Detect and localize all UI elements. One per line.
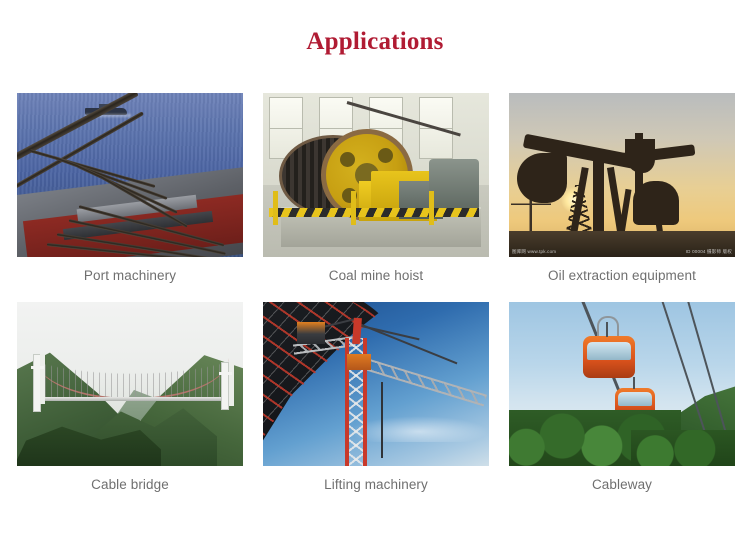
gallery-item-caption: Port machinery (17, 257, 243, 283)
gallery-row: Port machinery (17, 93, 731, 283)
drum-hole-1 (340, 152, 355, 167)
cable-bridge-photo[interactable] (17, 302, 243, 466)
crane-hoist-line (381, 382, 383, 458)
bridge-tower-right-crossbeam (219, 372, 232, 375)
gallery-item-caption: Lifting machinery (263, 466, 489, 492)
gondola-hanger-1 (606, 322, 609, 337)
rail-post-3 (429, 191, 434, 225)
bridge-tower-left-crossbeam (31, 366, 44, 369)
gallery-item-caption: Oil extraction equipment (509, 257, 735, 283)
gondola-cabin-1 (583, 336, 635, 378)
gallery-item-port-machinery[interactable]: Port machinery (17, 93, 243, 283)
watermark-left: 图库网 www.tpk.com (512, 249, 556, 255)
gallery-item-cable-bridge[interactable]: Cable bridge (17, 302, 243, 492)
bridge-tower-left-leg (40, 354, 45, 404)
gallery-item-lifting-machinery[interactable]: Lifting machinery (263, 302, 489, 492)
pumpjack-a-post (593, 155, 604, 243)
gondola-window-2 (618, 392, 652, 405)
rail-post-1 (273, 191, 278, 225)
rail-post-2 (351, 191, 356, 225)
safety-rail (269, 208, 479, 217)
page-title: Applications (0, 28, 750, 56)
gondola-hanger-2 (633, 377, 636, 389)
bridge-tower-right (221, 362, 229, 410)
crane-operator-cab (347, 354, 371, 370)
crane-counterweight (297, 322, 325, 344)
forest-foreground-right (631, 430, 735, 466)
bridge-deck (35, 397, 227, 401)
gallery-item-oil-extraction[interactable]: 图库网 www.tpk.com ID 00004 摄影师 版权 Oil extr… (509, 93, 735, 283)
applications-gallery: Port machinery (17, 93, 731, 492)
pumpjack-b-counterweight (633, 181, 679, 225)
lifting-machinery-photo[interactable] (263, 302, 489, 466)
cloud-haze (349, 416, 489, 442)
cableway-photo[interactable] (509, 302, 735, 466)
gondola-window-1 (587, 342, 631, 360)
crane-jib (357, 356, 487, 406)
oil-extraction-photo[interactable]: 图库网 www.tpk.com ID 00004 摄影师 版权 (509, 93, 735, 257)
coal-mine-hoist-photo[interactable] (263, 93, 489, 257)
suspension-hangers (39, 360, 225, 400)
drive-motor (429, 159, 479, 211)
gallery-item-cableway[interactable]: Cableway (509, 302, 735, 492)
watermark-right: ID 00004 摄影师 版权 (686, 249, 732, 255)
drum-hole-2 (378, 148, 393, 163)
gallery-item-caption: Cable bridge (17, 466, 243, 492)
applications-page: Applications (0, 0, 750, 553)
gallery-row: Cable bridge (17, 302, 731, 492)
port-machinery-photo[interactable] (17, 93, 243, 257)
pumpjack-a-counterweight (517, 153, 567, 203)
gallery-item-caption: Coal mine hoist (263, 257, 489, 283)
gallery-item-coal-mine-hoist[interactable]: Coal mine hoist (263, 93, 489, 283)
bridge-tower-right-leg (229, 362, 234, 406)
pumpjack-a-horsehead (625, 139, 655, 173)
gallery-item-caption: Cableway (509, 466, 735, 492)
